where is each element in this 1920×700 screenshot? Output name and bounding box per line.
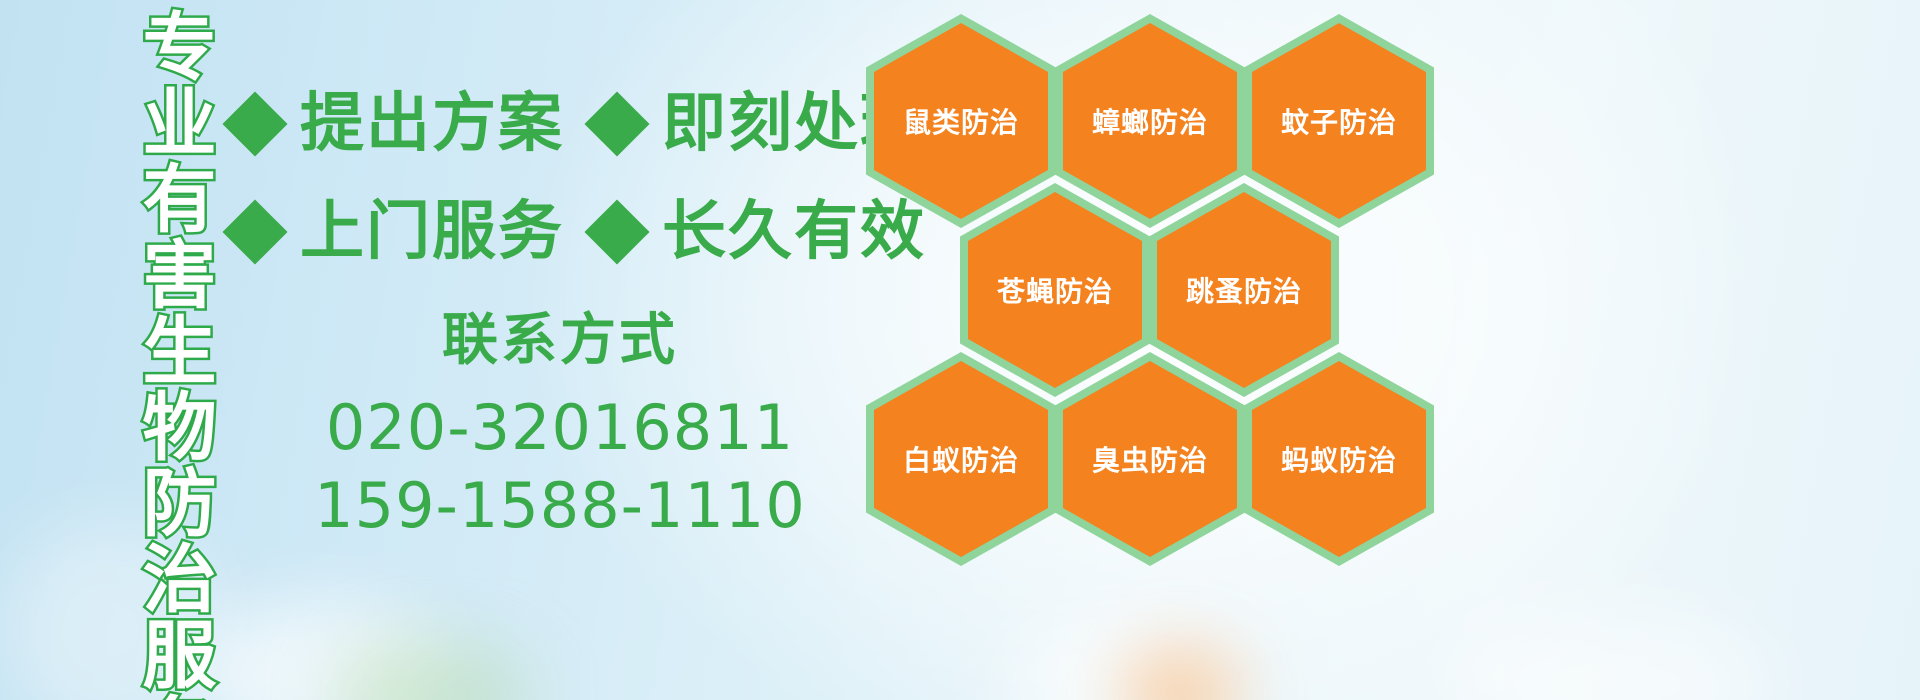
diamond-bullet-icon bbox=[222, 91, 287, 156]
hex-cell-ant[interactable]: 蚂蚁防治 bbox=[1244, 352, 1434, 566]
hex-cell-bedbug[interactable]: 臭虫防治 bbox=[1055, 352, 1245, 566]
hex-inner: 蟑螂防治 bbox=[1063, 23, 1237, 219]
hex-label: 蟑螂防治 bbox=[1092, 101, 1208, 141]
hex-inner: 鼠类防治 bbox=[874, 23, 1048, 219]
hex-cell-rodent[interactable]: 鼠类防治 bbox=[866, 14, 1056, 228]
background-haze-blob bbox=[1010, 620, 1240, 700]
phone-number-mobile[interactable]: 159-1588-1110 bbox=[250, 467, 870, 545]
hex-inner: 苍蝇防治 bbox=[968, 192, 1142, 388]
hex-cell-cockroach[interactable]: 蟑螂防治 bbox=[1055, 14, 1245, 228]
hex-label: 蚊子防治 bbox=[1281, 101, 1397, 141]
hex-inner: 蚊子防治 bbox=[1252, 23, 1426, 219]
phone-number-landline[interactable]: 020-32016811 bbox=[250, 389, 870, 467]
hex-label: 跳蚤防治 bbox=[1186, 270, 1302, 310]
background-haze-blob bbox=[190, 600, 450, 700]
vertical-headline: 专业有害生物防治服务 bbox=[104, 8, 208, 700]
hex-cell-termite[interactable]: 白蚁防治 bbox=[866, 352, 1056, 566]
feature-row-2: 上门服务 长久有效 bbox=[232, 200, 926, 264]
contact-block: 联系方式 020-32016811 159-1588-1110 bbox=[250, 310, 870, 545]
feature-label-onsite-service: 上门服务 bbox=[300, 200, 564, 264]
contact-heading: 联系方式 bbox=[250, 310, 870, 373]
background-haze-blob bbox=[1450, 610, 1770, 700]
diamond-bullet-icon bbox=[584, 91, 649, 156]
hex-inner: 白蚁防治 bbox=[874, 361, 1048, 557]
hex-label: 臭虫防治 bbox=[1092, 439, 1208, 479]
hex-cell-mosquito[interactable]: 蚊子防治 bbox=[1244, 14, 1434, 228]
diamond-bullet-icon bbox=[222, 199, 287, 264]
background-haze-blob bbox=[330, 640, 530, 700]
hex-inner: 跳蚤防治 bbox=[1157, 192, 1331, 388]
hex-label: 白蚁防治 bbox=[903, 439, 1019, 479]
service-honeycomb: 鼠类防治 蟑螂防治 蚊子防治 苍蝇防治 跳蚤防治 白蚁防治 bbox=[852, 0, 1472, 580]
hex-label: 蚂蚁防治 bbox=[1281, 439, 1397, 479]
background-haze-blob bbox=[1120, 648, 1240, 700]
hex-inner: 臭虫防治 bbox=[1063, 361, 1237, 557]
hex-cell-fly[interactable]: 苍蝇防治 bbox=[960, 183, 1150, 397]
pest-control-banner: 专业有害生物防治服务 提出方案 即刻处理 上门服务 长久有效 联系方式 020-… bbox=[0, 0, 1920, 700]
hex-label: 苍蝇防治 bbox=[997, 270, 1113, 310]
hex-inner: 蚂蚁防治 bbox=[1252, 361, 1426, 557]
feature-label-propose-plan: 提出方案 bbox=[300, 92, 564, 156]
diamond-bullet-icon bbox=[584, 199, 649, 264]
hex-label: 鼠类防治 bbox=[903, 101, 1019, 141]
feature-row-1: 提出方案 即刻处理 bbox=[232, 92, 926, 156]
hex-cell-flea[interactable]: 跳蚤防治 bbox=[1149, 183, 1339, 397]
